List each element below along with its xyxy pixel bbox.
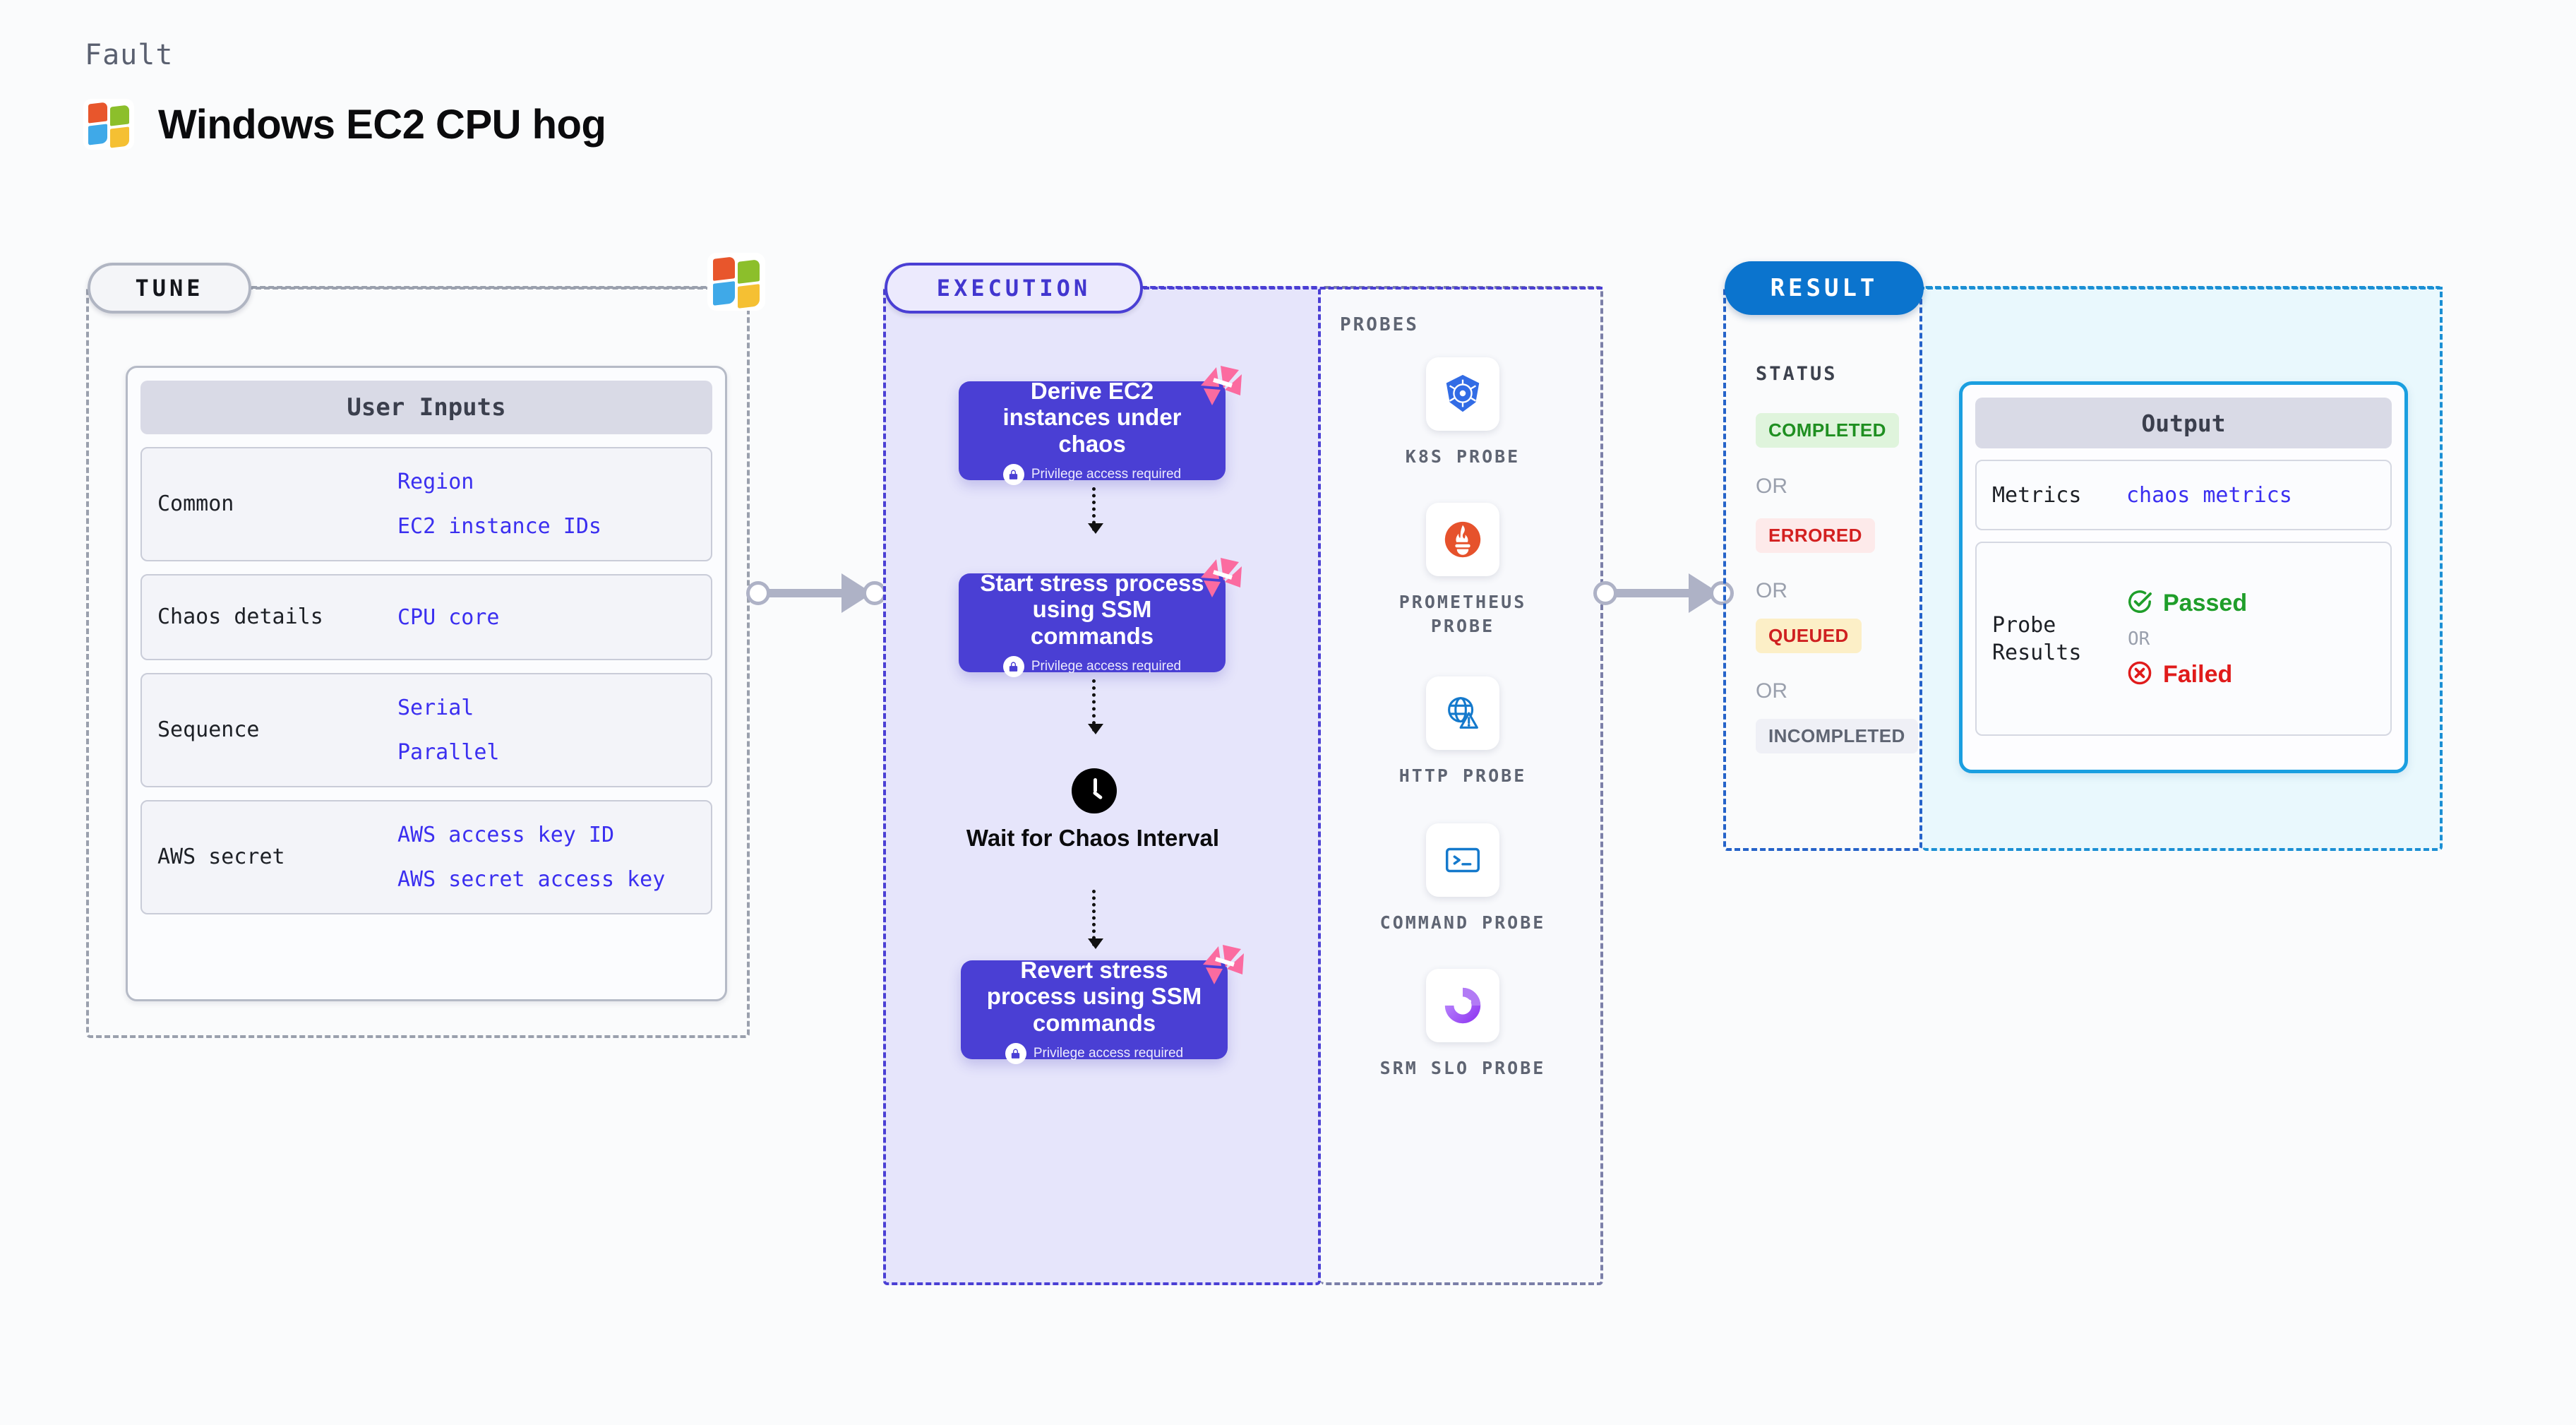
result-pill[interactable]: RESULT: [1725, 261, 1924, 315]
user-inputs-title: User Inputs: [140, 381, 712, 434]
row-key: Common: [157, 491, 397, 518]
user-inputs-row-sequence[interactable]: Sequence Serial Parallel: [140, 673, 712, 787]
lock-icon: [1003, 656, 1024, 677]
tune-pill-label: TUNE: [135, 275, 203, 302]
passed-label: Passed: [2163, 590, 2247, 617]
row-key: Sequence: [157, 717, 397, 744]
step-privilege-badge: Privilege access required: [1003, 656, 1181, 677]
row-values: AWS access key ID AWS secret access key: [397, 823, 665, 892]
check-circle-icon: [2126, 588, 2153, 619]
probe-result-failed: Failed: [2126, 660, 2247, 690]
output-row-probe-results[interactable]: Probe Results Passed OR Failed: [1975, 542, 2392, 736]
probe-label: SRM SLO PROBE: [1380, 1056, 1546, 1080]
status-or-2: OR: [1756, 579, 1787, 603]
row-value[interactable]: AWS secret access key: [397, 867, 665, 892]
status-badge-queued: QUEUED: [1756, 619, 1862, 653]
probe-item-command[interactable]: COMMAND PROBE: [1371, 823, 1554, 935]
kubernetes-icon: [1426, 357, 1499, 431]
connector-execution-to-result: [1590, 573, 1739, 613]
result-pill-label: RESULT: [1771, 274, 1879, 302]
probe-item-http[interactable]: HTTP PROBE: [1371, 676, 1554, 788]
failed-label: Failed: [2163, 661, 2232, 688]
step-badge-label: Privilege access required: [1031, 467, 1181, 482]
result-header-dash-line: [1919, 287, 2443, 290]
probe-label: PROMETHEUS PROBE: [1371, 590, 1554, 638]
row-value[interactable]: chaos metrics: [2126, 483, 2292, 508]
tune-header-dash-line: [247, 287, 720, 290]
tune-windows-logo-icon: [707, 253, 765, 311]
row-value[interactable]: CPU core: [397, 605, 500, 630]
execution-step-revert-stress[interactable]: Revert stress process using SSM commands…: [961, 960, 1228, 1059]
probe-result-or: OR: [2128, 628, 2247, 650]
user-inputs-row-aws-secret[interactable]: AWS secret AWS access key ID AWS secret …: [140, 800, 712, 914]
probe-results-values: Passed OR Failed: [2126, 588, 2247, 690]
status-badge-incompleted: INCOMPLETED: [1756, 719, 1918, 753]
row-value[interactable]: EC2 instance IDs: [397, 514, 601, 539]
connector-tune-to-execution: [743, 573, 892, 613]
row-values: CPU core: [397, 605, 500, 630]
prometheus-icon: [1426, 503, 1499, 576]
row-value[interactable]: AWS access key ID: [397, 823, 665, 847]
status-badge-completed: COMPLETED: [1756, 413, 1899, 448]
step-title: Derive EC2 instances under chaos: [974, 378, 1210, 458]
step-title: Revert stress process using SSM commands: [976, 957, 1212, 1037]
wait-step-label: Wait for Chaos Interval: [952, 825, 1234, 852]
row-key: AWS secret: [157, 844, 397, 871]
fault-title-row: Windows EC2 CPU hog: [83, 99, 606, 150]
probe-item-k8s[interactable]: K8S PROBE: [1371, 357, 1554, 469]
flow-connector: [1092, 487, 1096, 531]
probe-label: HTTP PROBE: [1399, 764, 1527, 788]
fault-kind-label: Fault: [85, 39, 173, 71]
execution-step-derive-instances[interactable]: Derive EC2 instances under chaos Privile…: [959, 381, 1226, 480]
user-inputs-row-common[interactable]: Common Region EC2 instance IDs: [140, 447, 712, 561]
diagram-canvas: Fault Windows EC2 CPU hog TUNE User Inpu…: [0, 0, 2576, 1425]
flow-connector: [1092, 890, 1096, 946]
windows-logo-icon: [83, 99, 134, 150]
status-or-1: OR: [1756, 475, 1787, 499]
probe-label: COMMAND PROBE: [1380, 911, 1546, 935]
execution-pill[interactable]: EXECUTION: [885, 263, 1143, 314]
row-key: Chaos details: [157, 604, 397, 631]
row-value[interactable]: Serial: [397, 696, 500, 720]
step-badge-label: Privilege access required: [1031, 659, 1181, 674]
lock-icon: [1003, 464, 1024, 485]
status-section-label: STATUS: [1756, 363, 1838, 385]
clock-icon: [1072, 768, 1117, 813]
output-card: Output Metrics chaos metrics Probe Resul…: [1959, 381, 2408, 773]
terminal-icon: [1426, 823, 1499, 897]
srm-slo-donut-icon: [1426, 969, 1499, 1042]
lock-icon: [1005, 1043, 1026, 1064]
probe-label: K8S PROBE: [1406, 445, 1520, 469]
probe-result-passed: Passed: [2126, 588, 2247, 619]
output-title: Output: [1975, 398, 2392, 448]
probe-item-srm-slo[interactable]: SRM SLO PROBE: [1371, 969, 1554, 1080]
flow-connector: [1092, 679, 1096, 732]
step-privilege-badge: Privilege access required: [1005, 1043, 1183, 1064]
step-badge-label: Privilege access required: [1034, 1046, 1183, 1061]
execution-pill-label: EXECUTION: [937, 275, 1091, 302]
execution-step-start-stress[interactable]: Start stress process using SSM commands …: [959, 573, 1226, 672]
page-title: Windows EC2 CPU hog: [158, 101, 606, 148]
row-value[interactable]: Parallel: [397, 740, 500, 765]
step-privilege-badge: Privilege access required: [1003, 464, 1181, 485]
row-key: Metrics: [1992, 482, 2126, 509]
tune-pill[interactable]: TUNE: [88, 263, 251, 314]
row-value[interactable]: Region: [397, 470, 601, 494]
status-or-3: OR: [1756, 679, 1787, 703]
status-badge-errored: ERRORED: [1756, 518, 1875, 553]
row-values: Serial Parallel: [397, 696, 500, 765]
user-inputs-card: User Inputs Common Region EC2 instance I…: [126, 366, 727, 1001]
probe-item-prometheus[interactable]: PROMETHEUS PROBE: [1371, 503, 1554, 638]
connector-start-dot: [746, 581, 770, 605]
row-values: Region EC2 instance IDs: [397, 470, 601, 539]
output-row-metrics[interactable]: Metrics chaos metrics: [1975, 460, 2392, 530]
http-globe-warning-icon: [1426, 676, 1499, 750]
x-circle-icon: [2126, 660, 2153, 690]
execution-header-dash-line: [1144, 287, 1602, 290]
probes-section-label: PROBES: [1340, 314, 1419, 335]
connector-start-dot: [1593, 581, 1617, 605]
row-key: Probe Results: [1992, 612, 2126, 667]
step-title: Start stress process using SSM commands: [974, 570, 1210, 650]
user-inputs-row-chaos-details[interactable]: Chaos details CPU core: [140, 574, 712, 660]
